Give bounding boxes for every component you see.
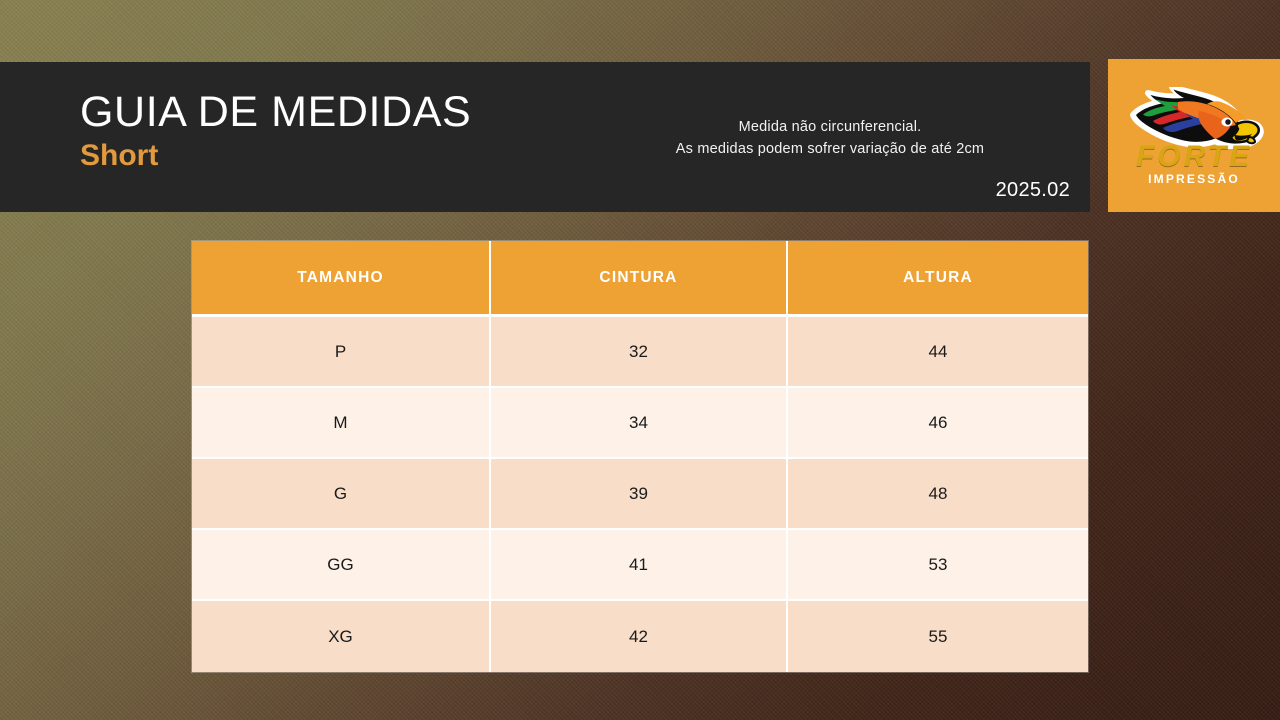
note-line-1: Medida não circunferencial.: [560, 116, 1100, 138]
title-block: GUIA DE MEDIDAS Short: [80, 90, 471, 175]
table-header-row: TAMANHO CINTURA ALTURA: [192, 241, 1088, 317]
cell-altura: 46: [788, 388, 1088, 459]
cell-cintura: 41: [491, 530, 788, 601]
cell-altura: 55: [788, 601, 1088, 672]
cell-tamanho: M: [192, 388, 491, 459]
column-header-tamanho: TAMANHO: [192, 241, 491, 317]
table-header: TAMANHO CINTURA ALTURA: [192, 241, 1088, 317]
cell-altura: 53: [788, 530, 1088, 601]
note-line-2: As medidas podem sofrer variação de até …: [560, 138, 1100, 160]
page-title: GUIA DE MEDIDAS: [80, 90, 471, 135]
header-bar: GUIA DE MEDIDAS Short Medida não circunf…: [0, 62, 1090, 212]
slide-canvas: GUIA DE MEDIDAS Short Medida não circunf…: [0, 0, 1280, 720]
cell-cintura: 34: [491, 388, 788, 459]
cell-tamanho: GG: [192, 530, 491, 601]
table-body: P 32 44 M 34 46 G 39 48 GG 41 53 XG 42: [192, 317, 1088, 672]
logo-subword: IMPRESSÃO: [1119, 173, 1269, 186]
table-row: P 32 44: [192, 317, 1088, 388]
cell-cintura: 42: [491, 601, 788, 672]
cell-tamanho: P: [192, 317, 491, 388]
cell-cintura: 32: [491, 317, 788, 388]
cell-altura: 48: [788, 459, 1088, 530]
cell-tamanho: XG: [192, 601, 491, 672]
version-label: 2025.02: [996, 179, 1070, 202]
cell-tamanho: G: [192, 459, 491, 530]
column-header-altura: ALTURA: [788, 241, 1088, 317]
table-row: GG 41 53: [192, 530, 1088, 601]
page-subtitle: Short: [80, 137, 471, 175]
logo-inner: FORTE IMPRESSÃO: [1119, 87, 1269, 186]
table-row: M 34 46: [192, 388, 1088, 459]
brand-logo-panel: FORTE IMPRESSÃO: [1108, 59, 1280, 212]
table-row: G 39 48: [192, 459, 1088, 530]
cell-altura: 44: [788, 317, 1088, 388]
column-header-cintura: CINTURA: [491, 241, 788, 317]
cell-cintura: 39: [491, 459, 788, 530]
size-guide-table: TAMANHO CINTURA ALTURA P 32 44 M 34 46 G…: [192, 241, 1088, 672]
measurement-note: Medida não circunferencial. As medidas p…: [560, 116, 1100, 161]
logo-wordmark: FORTE: [1119, 143, 1269, 172]
table-row: XG 42 55: [192, 601, 1088, 672]
